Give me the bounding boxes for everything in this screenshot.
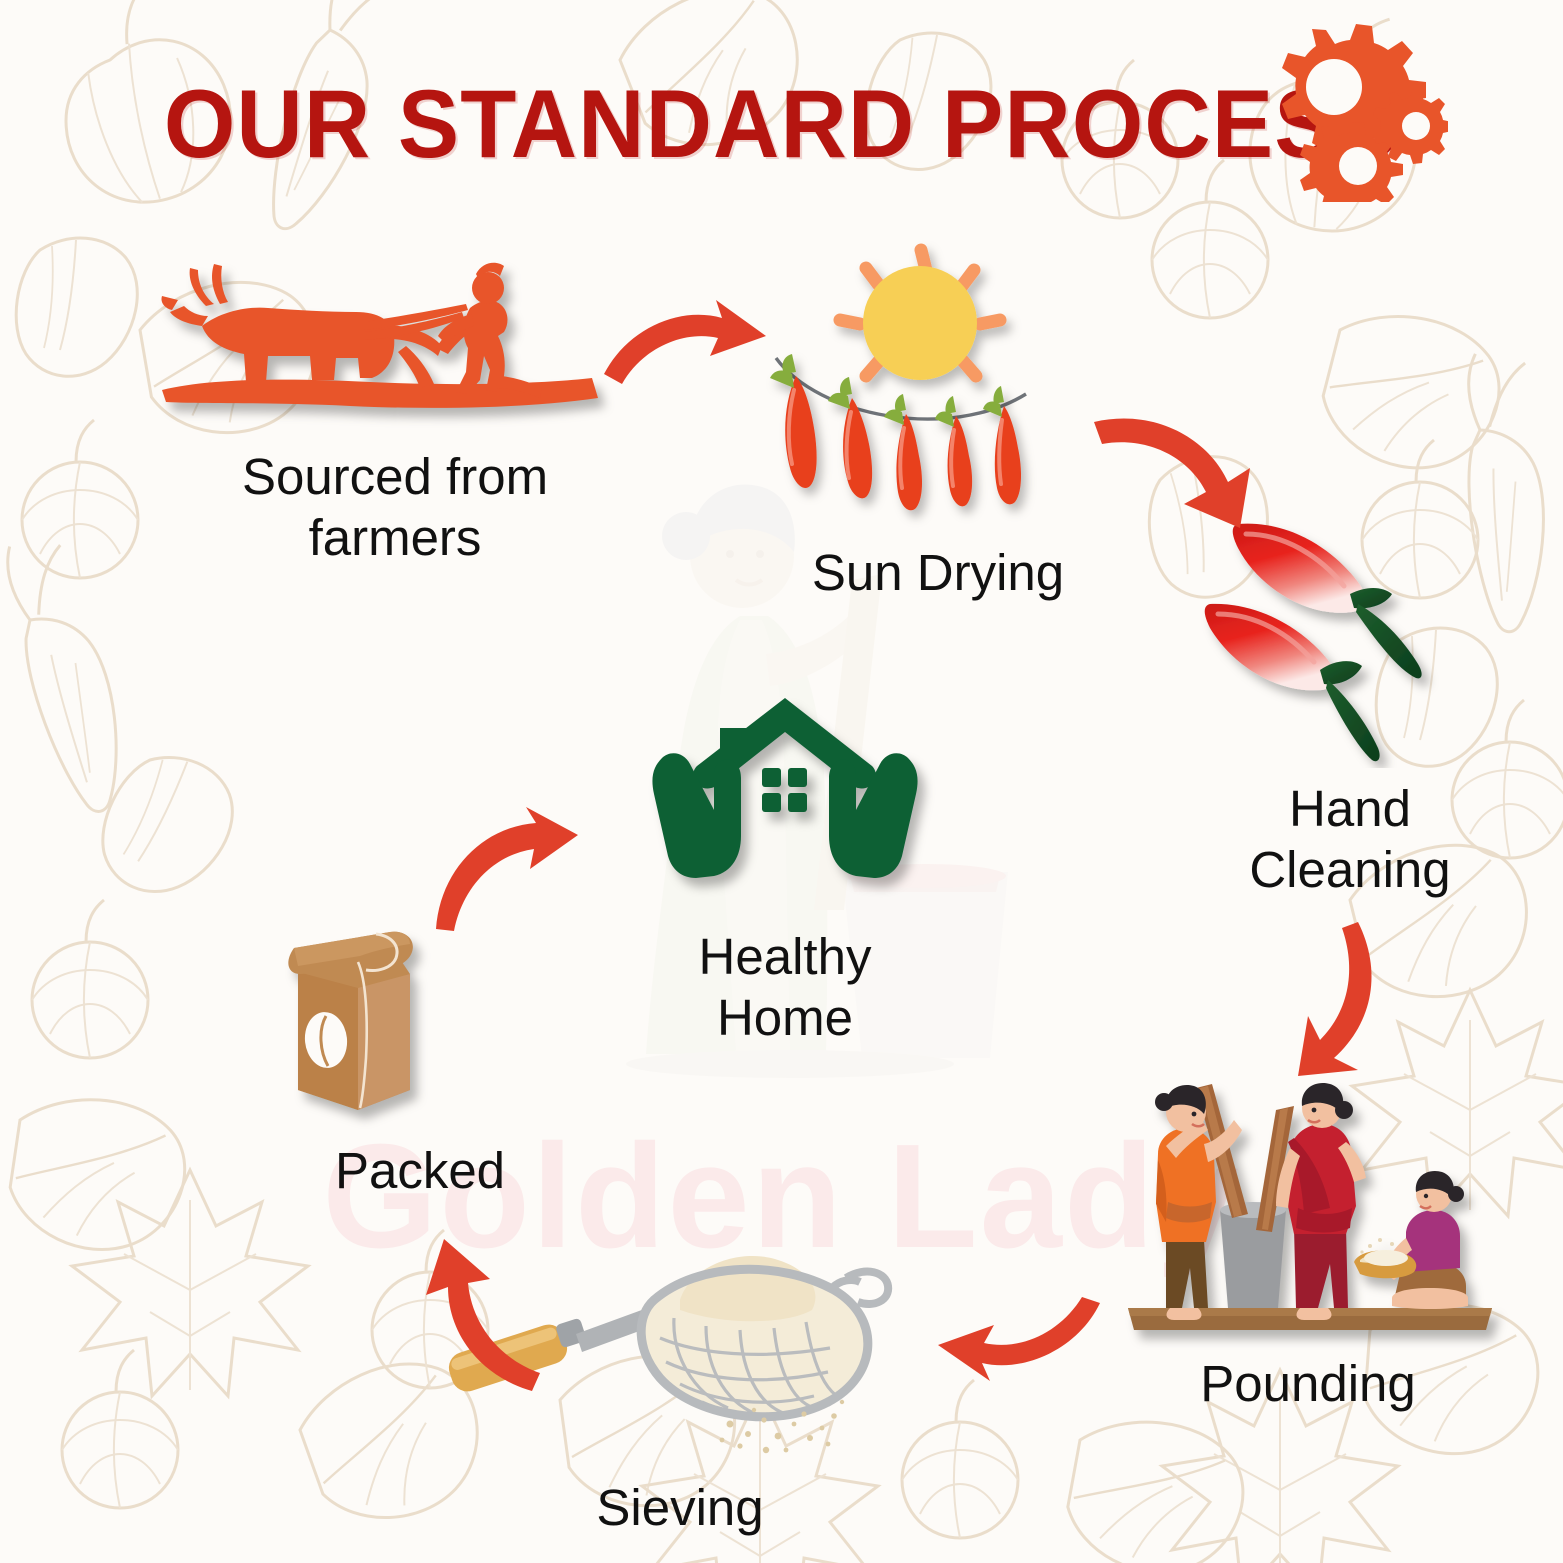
hands-cradling-house-icon <box>640 690 930 900</box>
three-gears-icon <box>1258 22 1448 202</box>
step-hand-cleaning: Hand Cleaning <box>1180 498 1520 900</box>
step-sun-drying: Sun Drying <box>748 228 1128 603</box>
step-label-pounding: Pounding <box>1108 1353 1508 1414</box>
arrow-hand-cleaning-to-pounding <box>1272 912 1422 1084</box>
step-label-hand-cleaning: Hand Cleaning <box>1180 778 1520 900</box>
arrow-pounding-to-sieving <box>928 1285 1108 1405</box>
step-label-sun-drying: Sun Drying <box>748 542 1128 603</box>
step-packed: Packed <box>240 918 600 1201</box>
arrow-packed-to-healthy-home <box>426 805 586 933</box>
two-red-chilies-icon <box>1180 498 1520 768</box>
ox-plough-farmer-silhouette-icon <box>150 252 640 432</box>
step-pounding: Pounding <box>1108 1082 1508 1414</box>
page-title-text: OUR STANDARD PROCESS <box>164 70 1399 181</box>
step-sourced-from-farmers: Sourced from farmers <box>150 252 640 568</box>
mesh-strainer-with-powder-icon <box>430 1238 930 1463</box>
sun-with-hanging-chilies-icon <box>748 228 1128 528</box>
step-label-healthy-home: Healthy Home <box>640 926 930 1048</box>
step-label-packed: Packed <box>240 1140 600 1201</box>
step-sieving: Sieving <box>430 1238 930 1538</box>
three-women-pounding-mortar-icon <box>1108 1082 1508 1347</box>
kraft-paper-bag-icon <box>240 918 600 1118</box>
infographic-canvas: Golden Lady OUR STANDARD PROCESS <box>0 0 1563 1563</box>
step-label-sourced: Sourced from farmers <box>150 446 640 568</box>
step-label-sieving: Sieving <box>430 1477 930 1538</box>
step-healthy-home: Healthy Home <box>640 690 930 1048</box>
